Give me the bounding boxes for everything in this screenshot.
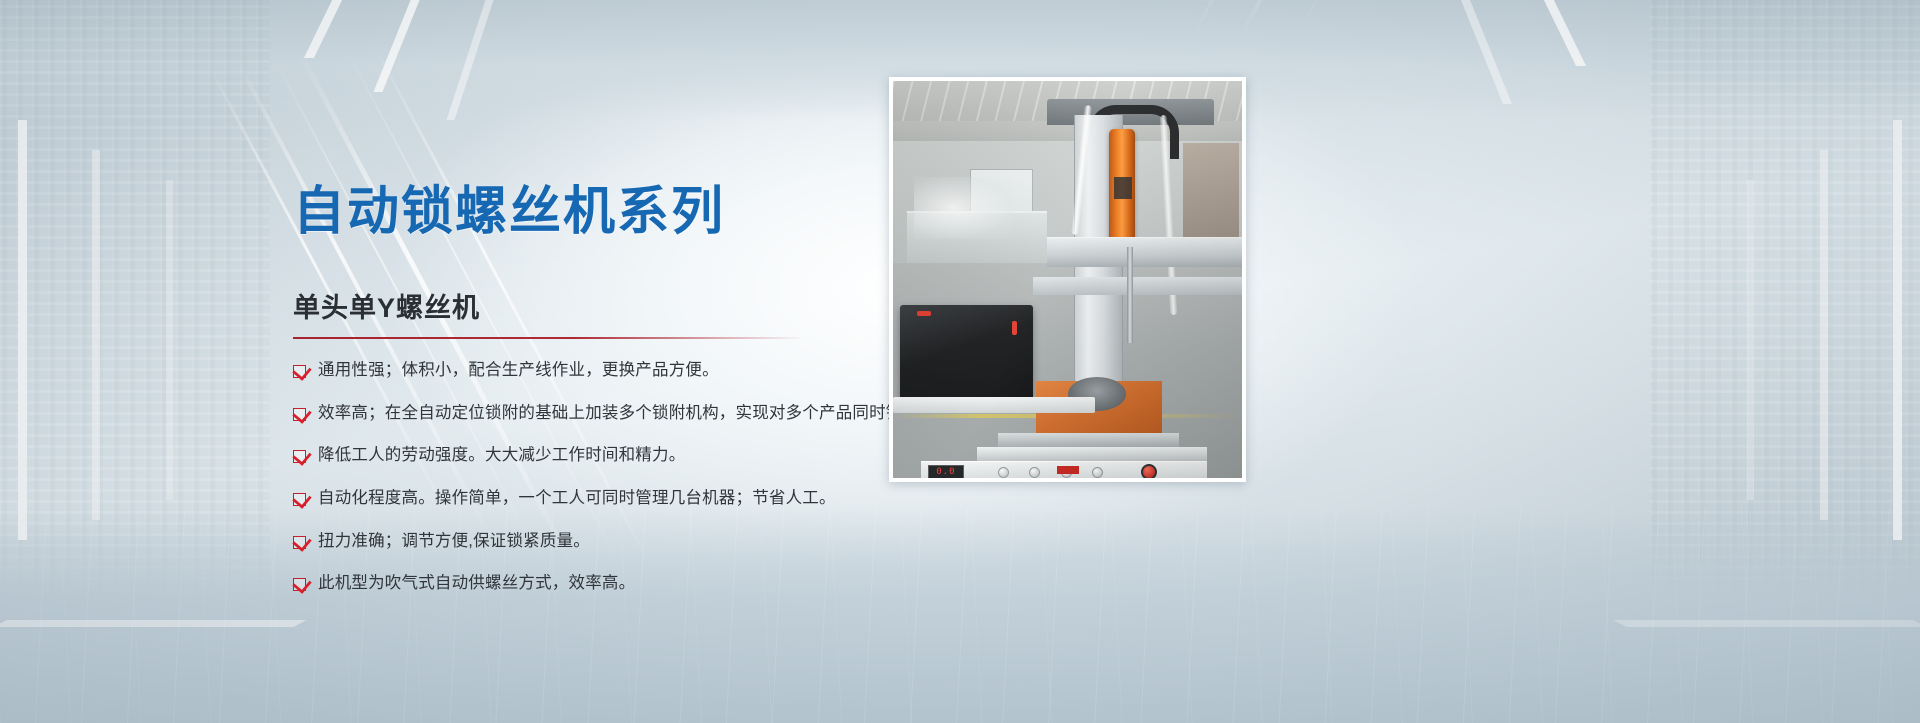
banner-content: 自动锁螺丝机系列 单头单Y螺丝机 通用性强；体积小，配合生产线作业，更换产品方便… [0,0,1920,723]
feature-text: 通用性强；体积小，配合生产线作业，更换产品方便。 [318,360,719,381]
list-item: 降低工人的劳动强度。大大减少工作时间和精力。 [293,445,933,466]
list-item: 效率高；在全自动定位锁附的基础上加装多个锁附机构，实现对多个产品同时锁附。 [293,403,933,424]
product-photo: 0.0 [893,81,1242,478]
page-title: 自动锁螺丝机系列 [293,169,725,244]
photo-lighting-overlay [893,81,1242,478]
check-icon [293,536,306,549]
check-icon [293,493,306,506]
product-photo-frame: 0.0 [889,77,1246,482]
check-icon [293,450,306,463]
list-item: 扭力准确；调节方便,保证锁紧质量。 [293,531,933,552]
title-divider [293,337,805,339]
feature-text: 降低工人的劳动强度。大大减少工作时间和精力。 [318,445,685,466]
list-item: 此机型为吹气式自动供螺丝方式，效率高。 [293,573,933,594]
feature-list: 通用性强；体积小，配合生产线作业，更换产品方便。 效率高；在全自动定位锁附的基础… [293,360,933,616]
check-icon [293,578,306,591]
page-subtitle: 单头单Y螺丝机 [293,286,480,325]
feature-text: 此机型为吹气式自动供螺丝方式，效率高。 [318,573,635,594]
check-icon [293,365,306,378]
check-icon [293,408,306,421]
banner-stage: 自动锁螺丝机系列 单头单Y螺丝机 通用性强；体积小，配合生产线作业，更换产品方便… [0,0,1920,723]
feature-text: 扭力准确；调节方便,保证锁紧质量。 [318,531,590,552]
list-item: 通用性强；体积小，配合生产线作业，更换产品方便。 [293,360,933,381]
list-item: 自动化程度高。操作简单，一个工人可同时管理几台机器；节省人工。 [293,488,933,509]
feature-text: 效率高；在全自动定位锁附的基础上加装多个锁附机构，实现对多个产品同时锁附。 [318,403,936,424]
feature-text: 自动化程度高。操作简单，一个工人可同时管理几台机器；节省人工。 [318,488,836,509]
